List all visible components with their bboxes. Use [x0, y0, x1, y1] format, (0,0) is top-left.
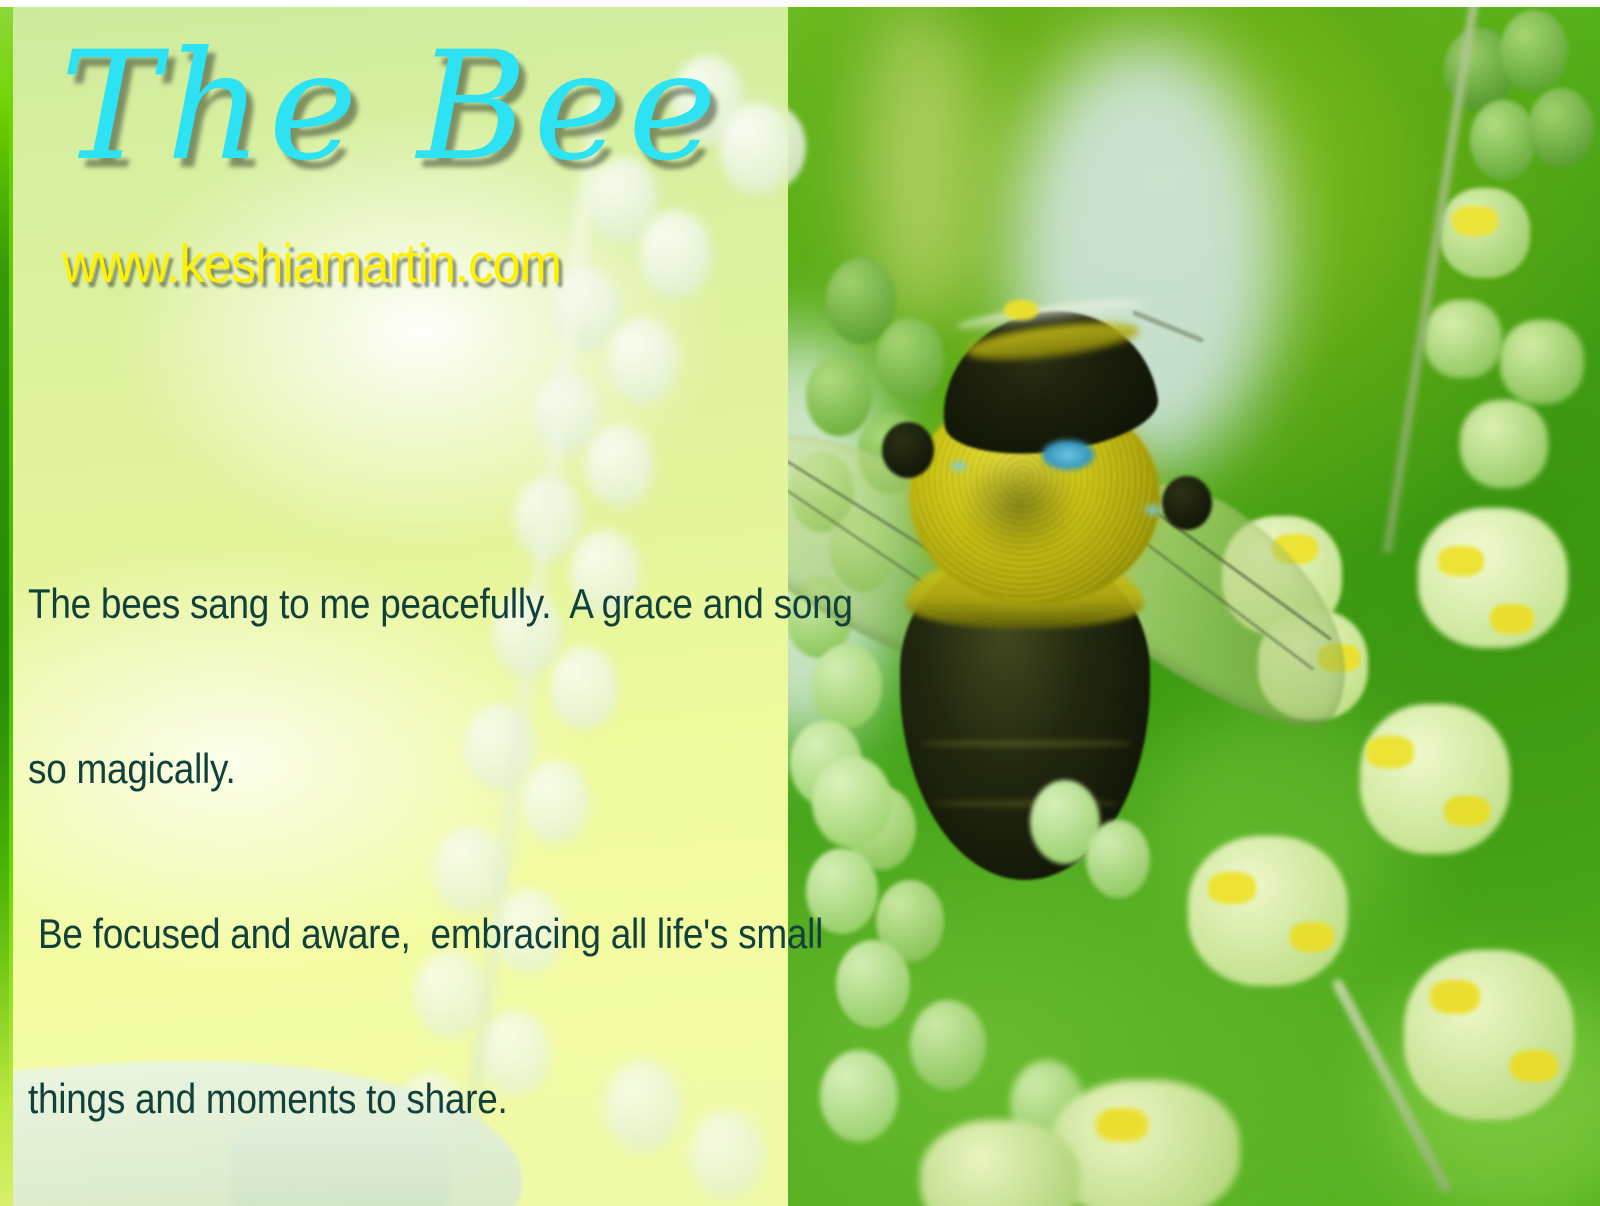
bee-abdomen-segment: [932, 800, 1122, 807]
top-white-border: [0, 0, 1600, 7]
bee-poem-poster: The Bee www.keshiamartin.com The bees sa…: [0, 0, 1600, 1206]
bumblebee: [790, 300, 1350, 950]
poem-line: The bees sang to me peacefully. A grace …: [28, 576, 853, 631]
poem-body: The bees sang to me peacefully. A grace …: [28, 466, 853, 1206]
pollen-speck: [1004, 300, 1038, 320]
bee-antenna: [1132, 310, 1204, 343]
left-edge-shading: [0, 96, 9, 1106]
bee-abdomen-segment: [920, 740, 1134, 747]
bee-eye-left: [882, 422, 934, 478]
bee-ocellus-marking: [1042, 440, 1094, 470]
bee-ocellus-marking: [1142, 502, 1164, 518]
website-url: www.keshiamartin.com: [62, 236, 561, 291]
poem-line: so magically.: [28, 741, 853, 796]
poem-line: things and moments to share.: [28, 1071, 853, 1126]
poem-line: Be focused and aware, embracing all life…: [28, 906, 853, 961]
poster-title: The Bee: [60, 32, 723, 182]
bee-ocellus-marking: [948, 458, 970, 474]
bee-eye-right: [1162, 476, 1212, 530]
